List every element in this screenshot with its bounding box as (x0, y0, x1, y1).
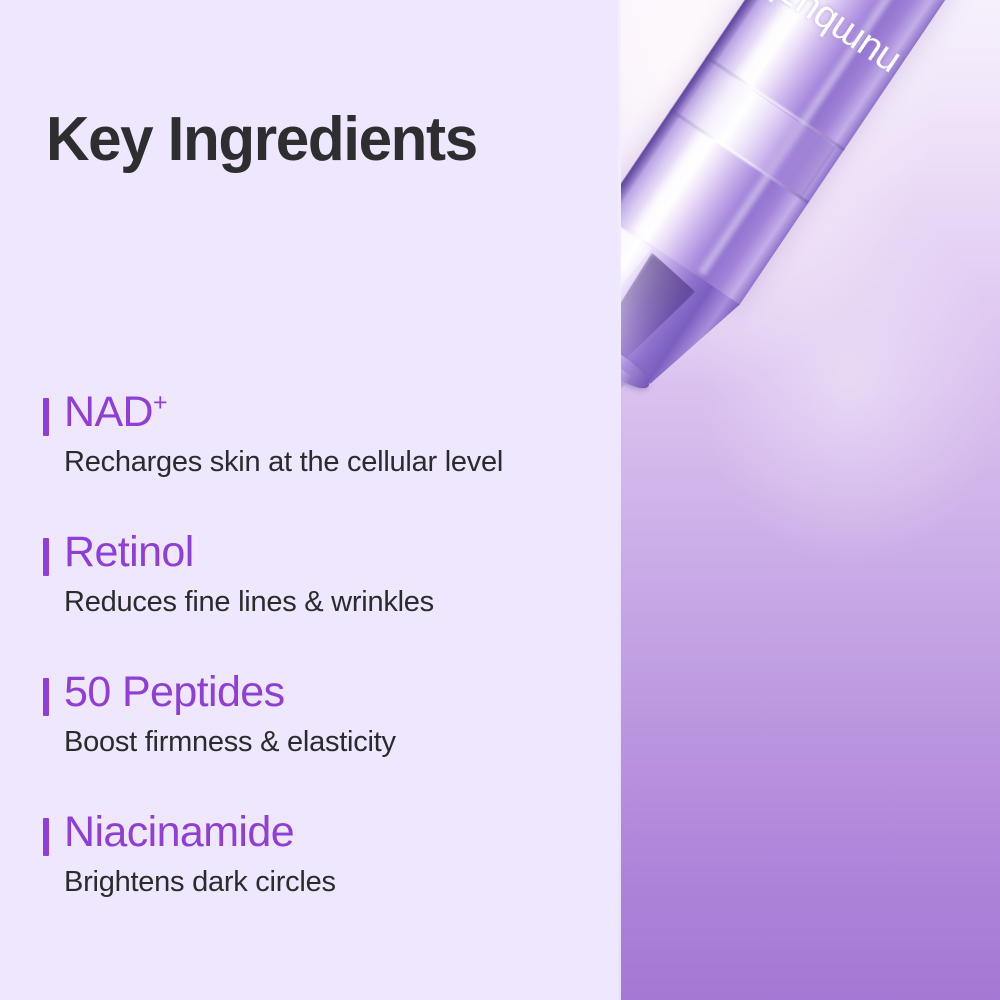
product-key-ingredients-graphic: Key Ingredients NAD+ Recharges skin at t… (0, 0, 1000, 1000)
ingredient-description: Recharges skin at the cellular level (64, 446, 503, 479)
ingredient-description: Reduces fine lines & wrinkles (64, 586, 434, 619)
product-image-panel: NAD+ numbuzin (621, 0, 1000, 1000)
ingredient-name: Niacinamide (64, 808, 294, 857)
ingredient-name-text: 50 Peptides (64, 668, 285, 716)
left-content-panel: Key Ingredients NAD+ Recharges skin at t… (0, 0, 618, 1000)
ingredient-name: 50 Peptides (64, 668, 285, 717)
list-item: Retinol Reduces fine lines & wrinkles (0, 532, 618, 672)
accent-bar-icon (43, 538, 49, 576)
page-title: Key Ingredients (46, 104, 477, 175)
ingredient-description: Boost firmness & elasticity (64, 726, 396, 759)
accent-bar-icon (43, 818, 49, 856)
panel-divider (618, 0, 621, 1000)
ingredient-name: Retinol (64, 528, 194, 577)
ingredient-name-text: Niacinamide (64, 808, 294, 856)
product-tube: NAD+ numbuzin (621, 0, 990, 542)
ingredient-name: NAD+ (64, 388, 168, 437)
ingredient-list: NAD+ Recharges skin at the cellular leve… (0, 392, 618, 952)
accent-bar-icon (43, 398, 49, 436)
ingredient-name-text: NAD (64, 388, 153, 436)
ingredient-name-text: Retinol (64, 528, 194, 576)
accent-bar-icon (43, 678, 49, 716)
list-item: Niacinamide Brightens dark circles (0, 812, 618, 952)
ingredient-description: Brightens dark circles (64, 866, 336, 899)
list-item: 50 Peptides Boost firmness & elasticity (0, 672, 618, 812)
list-item: NAD+ Recharges skin at the cellular leve… (0, 392, 618, 532)
ingredient-name-superscript: + (153, 389, 168, 417)
